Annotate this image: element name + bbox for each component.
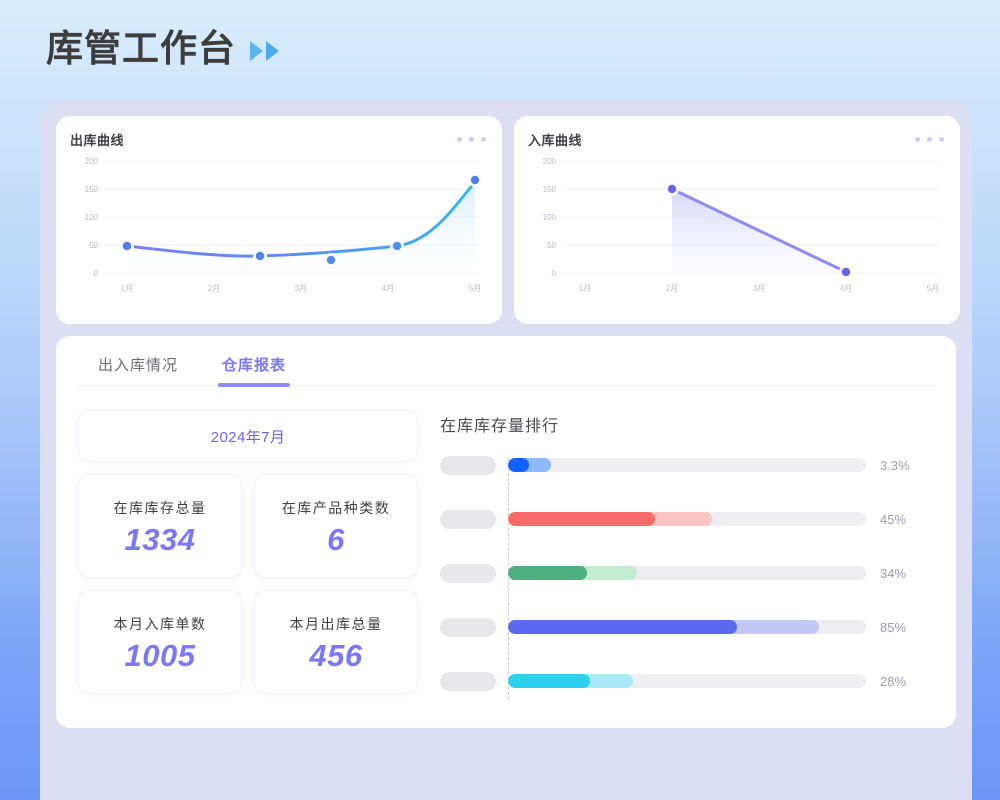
page-title: 库管工作台	[46, 30, 236, 67]
ranking-bar-track	[508, 458, 866, 472]
svg-text:1月: 1月	[121, 284, 133, 293]
svg-text:1月: 1月	[579, 284, 591, 293]
ranking-item-label-placeholder	[440, 672, 496, 691]
report-tabs: 出入库情况 仓库报表	[78, 354, 934, 386]
ranking-row: 3.3%	[440, 454, 934, 476]
ranking-percent: 45%	[880, 512, 934, 527]
ranking-guide-line	[508, 458, 509, 700]
svg-text:150: 150	[543, 185, 557, 194]
ranking-bar-solid	[508, 512, 655, 526]
svg-text:200: 200	[543, 157, 557, 166]
svg-text:0: 0	[552, 269, 557, 278]
more-dots-icon[interactable]	[457, 137, 486, 142]
ranking-bar-solid	[508, 674, 590, 688]
svg-text:3月: 3月	[295, 284, 307, 293]
inbound-chart-card: 入库曲线	[514, 116, 960, 324]
ranking-item-label-placeholder	[440, 618, 496, 637]
report-card: 出入库情况 仓库报表 2024年7月 在库库存总量 1334 在库产品种类数 6	[56, 336, 956, 728]
ranking-bar-track	[508, 674, 866, 688]
svg-text:5月: 5月	[469, 284, 481, 293]
ranking-item-label-placeholder	[440, 456, 496, 475]
ranking-title: 在库库存量排行	[440, 412, 934, 436]
stat-value: 6	[327, 524, 345, 555]
stat-value: 456	[309, 640, 362, 671]
ranking-percent: 34%	[880, 566, 934, 581]
period-value: 2024年7月	[211, 426, 286, 447]
stats-grid: 在库库存总量 1334 在库产品种类数 6 本月入库单数 1005 本月出库总量…	[78, 474, 418, 694]
ranking-bar-track	[508, 566, 866, 580]
svg-text:50: 50	[547, 241, 556, 250]
ranking-row: 45%	[440, 508, 934, 530]
inbound-chart-header: 入库曲线	[528, 130, 944, 149]
stat-value: 1005	[125, 640, 196, 671]
ranking-percent: 85%	[880, 620, 934, 635]
ranking-column: 在库库存量排行 3.3%45%34%85%28%	[440, 410, 934, 694]
ranking-bar-solid	[508, 620, 737, 634]
ranking-bar-solid	[508, 566, 587, 580]
outbound-chart-header: 出库曲线	[70, 130, 486, 149]
stat-card-total-stock: 在库库存总量 1334	[78, 474, 242, 578]
charts-row: 出库曲线	[56, 116, 956, 324]
svg-text:2月: 2月	[208, 284, 220, 293]
svg-text:200: 200	[85, 157, 99, 166]
ranking-bar-track	[508, 512, 866, 526]
ranking-bar-solid	[508, 458, 529, 472]
stat-card-product-types: 在库产品种类数 6	[254, 474, 418, 578]
dashboard-panel: 出库曲线	[40, 100, 972, 800]
inbound-chart-plot: 200 150 100 50 0 1月	[528, 153, 944, 305]
ranking-row: 85%	[440, 616, 934, 638]
svg-text:4月: 4月	[382, 284, 394, 293]
svg-text:2月: 2月	[666, 284, 678, 293]
stat-label: 本月入库单数	[114, 614, 207, 634]
outbound-line-chart: 200 150 100 50 0	[70, 153, 486, 305]
svg-text:100: 100	[85, 213, 99, 222]
svg-text:5月: 5月	[927, 284, 939, 293]
svg-text:0: 0	[94, 269, 99, 278]
svg-text:100: 100	[543, 213, 557, 222]
ranking-row: 28%	[440, 670, 934, 692]
stat-label: 本月出库总量	[290, 614, 383, 634]
double-right-arrow-icon	[250, 41, 279, 61]
period-selector[interactable]: 2024年7月	[78, 410, 418, 462]
stat-value: 1334	[125, 524, 196, 555]
stat-card-monthly-outbound-total: 本月出库总量 456	[254, 590, 418, 694]
report-body: 2024年7月 在库库存总量 1334 在库产品种类数 6 本月入库单数 100…	[78, 410, 934, 694]
ranking-percent: 3.3%	[880, 458, 934, 473]
svg-text:50: 50	[89, 241, 98, 250]
stat-card-monthly-inbound-orders: 本月入库单数 1005	[78, 590, 242, 694]
svg-text:3月: 3月	[753, 284, 765, 293]
svg-text:150: 150	[85, 185, 99, 194]
outbound-chart-title: 出库曲线	[70, 130, 124, 149]
ranking-row: 34%	[440, 562, 934, 584]
ranking-bar-track	[508, 620, 866, 634]
stat-label: 在库产品种类数	[282, 498, 391, 518]
ranking-item-label-placeholder	[440, 564, 496, 583]
ranking-list: 3.3%45%34%85%28%	[440, 454, 934, 692]
tab-warehouse-report[interactable]: 仓库报表	[222, 354, 286, 385]
stat-label: 在库库存总量	[114, 498, 207, 518]
inbound-line-chart: 200 150 100 50 0 1月	[528, 153, 944, 305]
tab-inout-status[interactable]: 出入库情况	[98, 354, 178, 385]
outbound-chart-card: 出库曲线	[56, 116, 502, 324]
ranking-percent: 28%	[880, 674, 934, 689]
svg-text:4月: 4月	[840, 284, 852, 293]
more-dots-icon[interactable]	[915, 137, 944, 142]
page-header: 库管工作台	[46, 30, 279, 67]
ranking-item-label-placeholder	[440, 510, 496, 529]
inbound-chart-title: 入库曲线	[528, 130, 582, 149]
stats-column: 2024年7月 在库库存总量 1334 在库产品种类数 6 本月入库单数 100…	[78, 410, 418, 694]
outbound-chart-plot: 200 150 100 50 0	[70, 153, 486, 305]
